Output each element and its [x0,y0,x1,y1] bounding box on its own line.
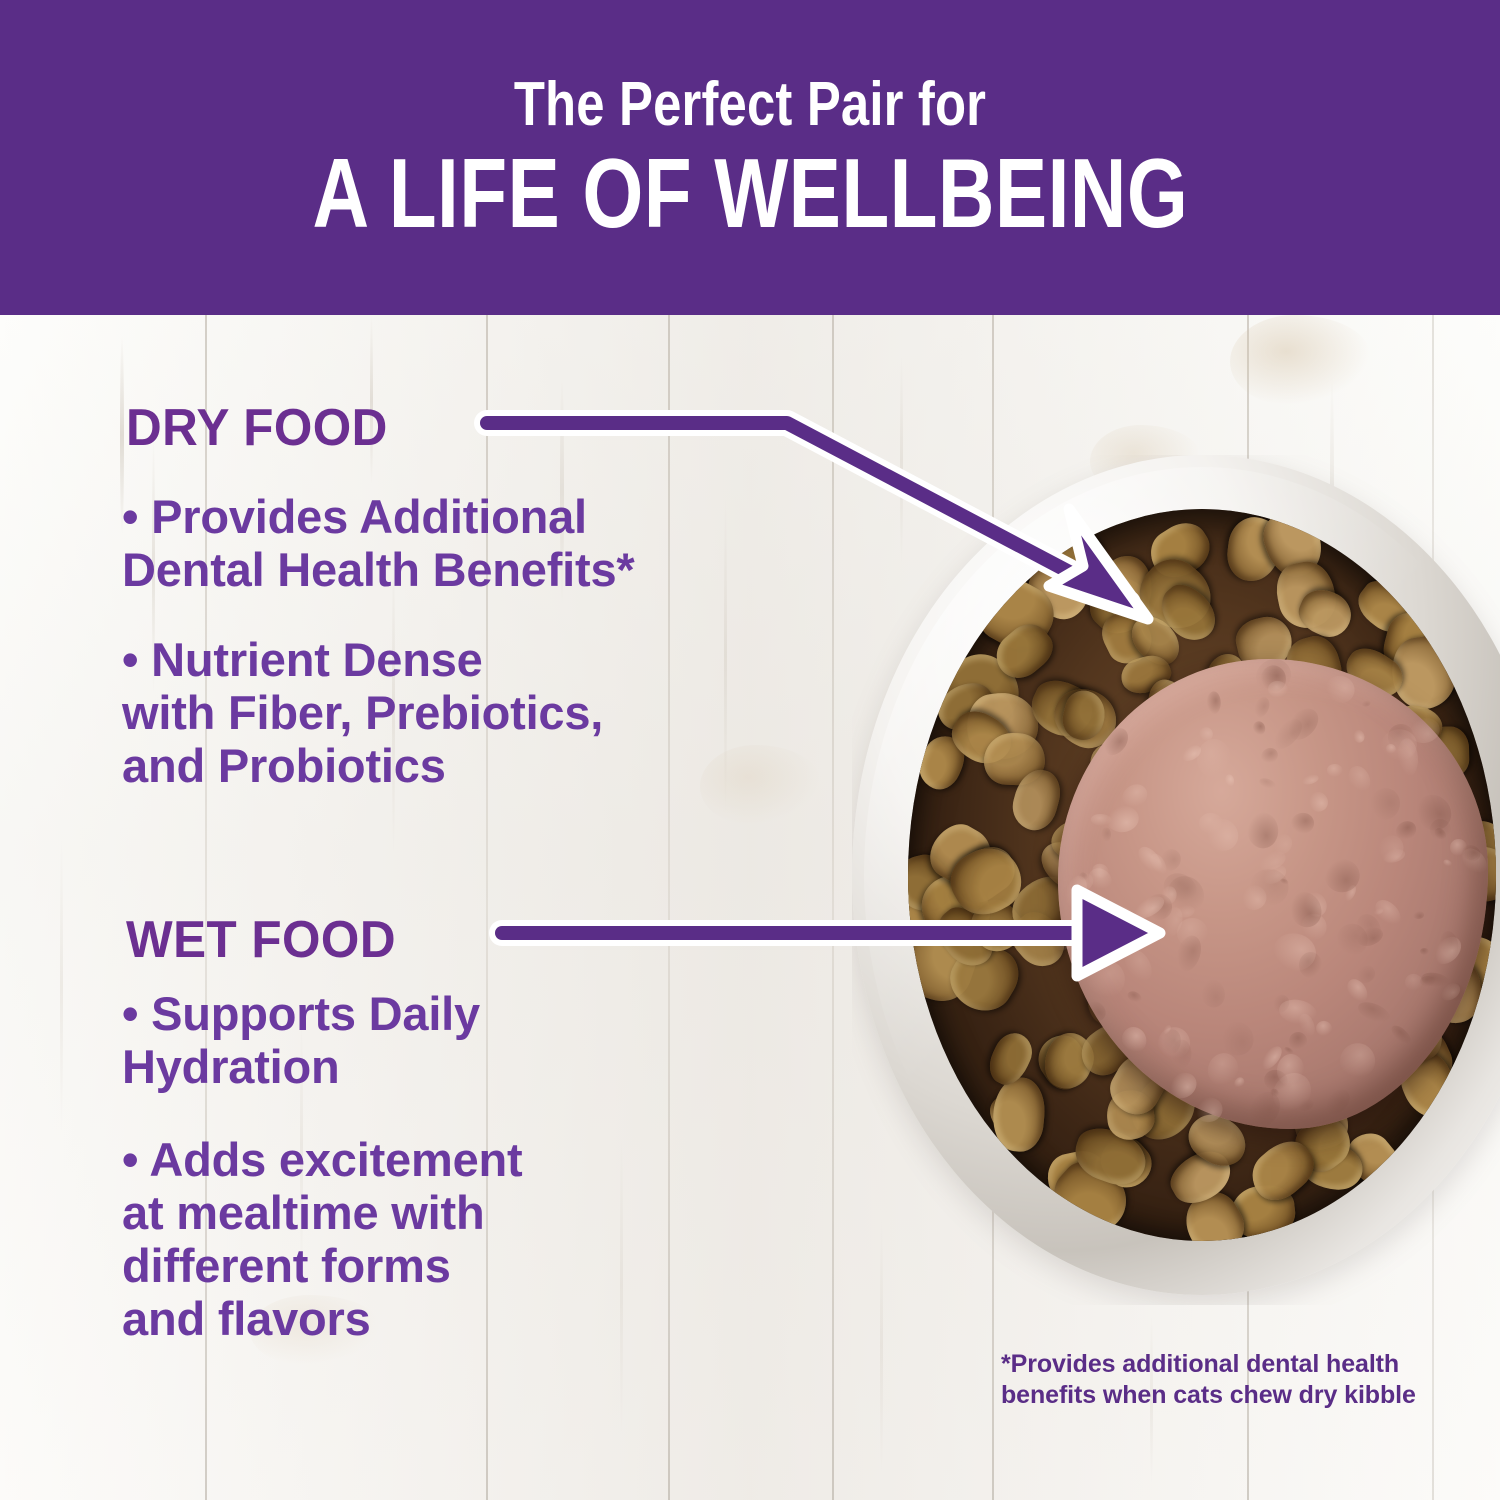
bowl-interior [908,509,1496,1241]
pate-texture-speck [1305,788,1332,815]
bullet-wet-2-line2: at mealtime with [122,1186,484,1239]
pate-texture-speck [1198,978,1227,1010]
pate-texture-speck [1351,728,1367,744]
benefits-copy-column: DRY FOOD • Provides Additional Dental He… [0,315,840,1500]
pate-texture-speck [1419,948,1428,956]
pate-texture-speck [1361,699,1370,707]
pate-texture-speck [1082,998,1109,1025]
bullet-wet-2: • Adds excitement at mealtime with diffe… [122,1133,822,1345]
pate-texture-speck [1290,812,1316,836]
pate-texture-speck [1091,813,1112,826]
bullet-dry-2-line2: with Fiber, Prebiotics, [122,686,603,739]
bullet-dry-1: • Provides Additional Dental Health Bene… [122,490,822,596]
footnote-line1: *Provides additional dental health [1001,1350,1399,1378]
footnote-text: *Provides additional dental health benef… [1001,1349,1471,1410]
pet-bowl-photo [852,455,1500,1305]
pate-texture-speck [1333,1037,1381,1085]
pate-texture-speck [1258,776,1277,790]
pate-texture-speck [1323,672,1358,706]
header-title-line2: A LIFE OF WELLBEING [312,144,1188,242]
pate-texture-speck [1388,1023,1414,1049]
bullet-dry-1-line1: • Provides Additional [122,490,587,543]
pate-texture-speck [1171,1039,1192,1069]
pate-texture-speck [1249,868,1289,906]
section-title-dry-food: DRY FOOD [126,398,388,458]
pate-texture-speck [1344,763,1374,796]
pate-texture-speck [1355,998,1393,1027]
pate-texture-speck [1320,1085,1354,1120]
pate-texture-speck [1314,1019,1334,1038]
pate-texture-speck [1442,859,1453,869]
pate-texture-speck [1302,773,1321,786]
pate-texture-speck [1366,783,1405,823]
pate-texture-speck [1125,989,1143,1005]
header-banner: The Perfect Pair for A LIFE OF WELLBEING [0,0,1500,315]
bullet-dry-1-line2: Dental Health Benefits* [122,543,635,596]
bullet-wet-2-line3: different forms [122,1239,451,1292]
pate-texture-speck [1224,774,1234,787]
pate-texture-speck [1413,910,1425,919]
pate-texture-speck [1118,1023,1151,1057]
bullet-wet-2-line1: • Adds excitement [122,1133,522,1186]
pate-texture-speck [1101,827,1111,842]
pate-texture-speck [1120,945,1157,987]
poster-canvas: The Perfect Pair for A LIFE OF WELLBEING… [0,0,1500,1500]
pate-texture-speck [1081,954,1131,1004]
footnote-line2: benefits when cats chew dry kibble [1001,1381,1416,1409]
pate-texture-speck [1251,720,1267,737]
bullet-wet-1-line1: • Supports Daily [122,987,480,1040]
bullet-dry-2-line3: and Probiotics [122,739,446,792]
pate-texture-speck [1197,738,1232,777]
section-title-wet-food: WET FOOD [126,910,396,970]
bullet-dry-2: • Nutrient Dense with Fiber, Prebiotics,… [122,633,822,792]
bullet-wet-1-line2: Hydration [122,1040,340,1093]
bullet-wet-2-line4: and flavors [122,1292,371,1345]
pate-texture-speck [1250,694,1272,719]
pate-texture-speck [1327,763,1344,778]
bullet-wet-1: • Supports Daily Hydration [122,987,822,1093]
pate-texture-speck [1207,691,1221,714]
header-title-line1: The Perfect Pair for [514,74,986,136]
bullet-dry-2-line1: • Nutrient Dense [122,633,483,686]
